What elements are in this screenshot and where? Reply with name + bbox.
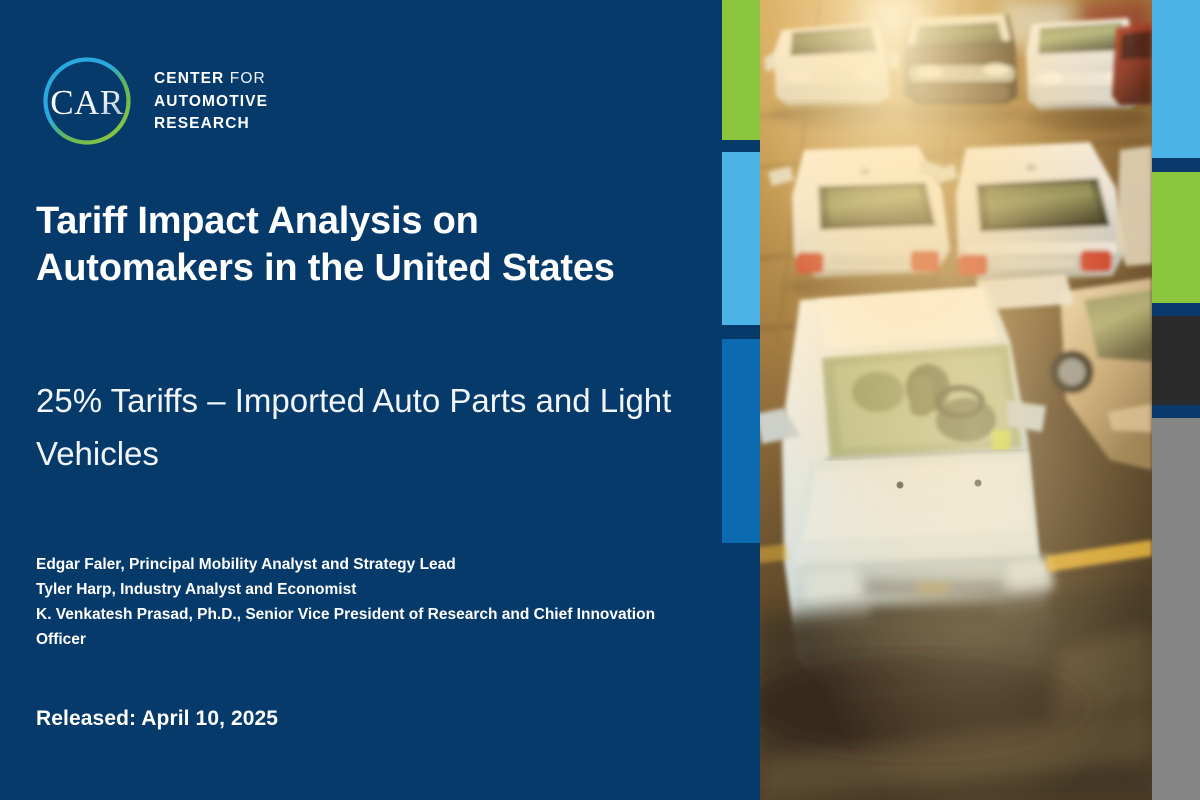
cover-page: CAR CENTER FOR AUTOMOTIVE RESEARCH Tarif… (0, 0, 1200, 800)
author-line: K. Venkatesh Prasad, Ph.D., Senior Vice … (36, 602, 696, 652)
dark-bar (1152, 316, 1200, 405)
release-date: Released: April 10, 2025 (36, 707, 278, 731)
car-wordmark: CENTER FOR AUTOMOTIVE RESEARCH (154, 68, 268, 135)
green-bar (1152, 172, 1200, 303)
car-circle-logo-icon: CAR (38, 52, 136, 150)
svg-text:CAR: CAR (50, 83, 124, 122)
wordmark-for: FOR (230, 70, 266, 87)
right-accent-bar-strip (1152, 0, 1200, 800)
parking-lot-cars-photo (760, 0, 1152, 800)
gray-bar (1152, 418, 1200, 800)
light-blue-bar (722, 152, 760, 325)
wordmark-line-3: RESEARCH (154, 115, 268, 134)
car-logo: CAR CENTER FOR AUTOMOTIVE RESEARCH (38, 52, 268, 150)
wordmark-line-2: AUTOMOTIVE (154, 93, 268, 112)
wordmark-line-1: CENTER FOR (154, 70, 268, 89)
green-bar (722, 0, 760, 140)
author-line: Edgar Faler, Principal Mobility Analyst … (36, 552, 696, 577)
left-accent-bar-strip (722, 0, 760, 800)
page-subtitle: 25% Tariffs – Imported Auto Parts and Li… (36, 374, 676, 481)
author-line: Tyler Harp, Industry Analyst and Economi… (36, 577, 696, 602)
light-blue-bar (1152, 0, 1200, 158)
medium-blue-bar (722, 339, 760, 543)
navy-bar (722, 557, 760, 800)
wordmark-center: CENTER (154, 70, 224, 87)
page-title: Tariff Impact Analysis on Automakers in … (36, 198, 656, 292)
author-list: Edgar Faler, Principal Mobility Analyst … (36, 552, 696, 652)
